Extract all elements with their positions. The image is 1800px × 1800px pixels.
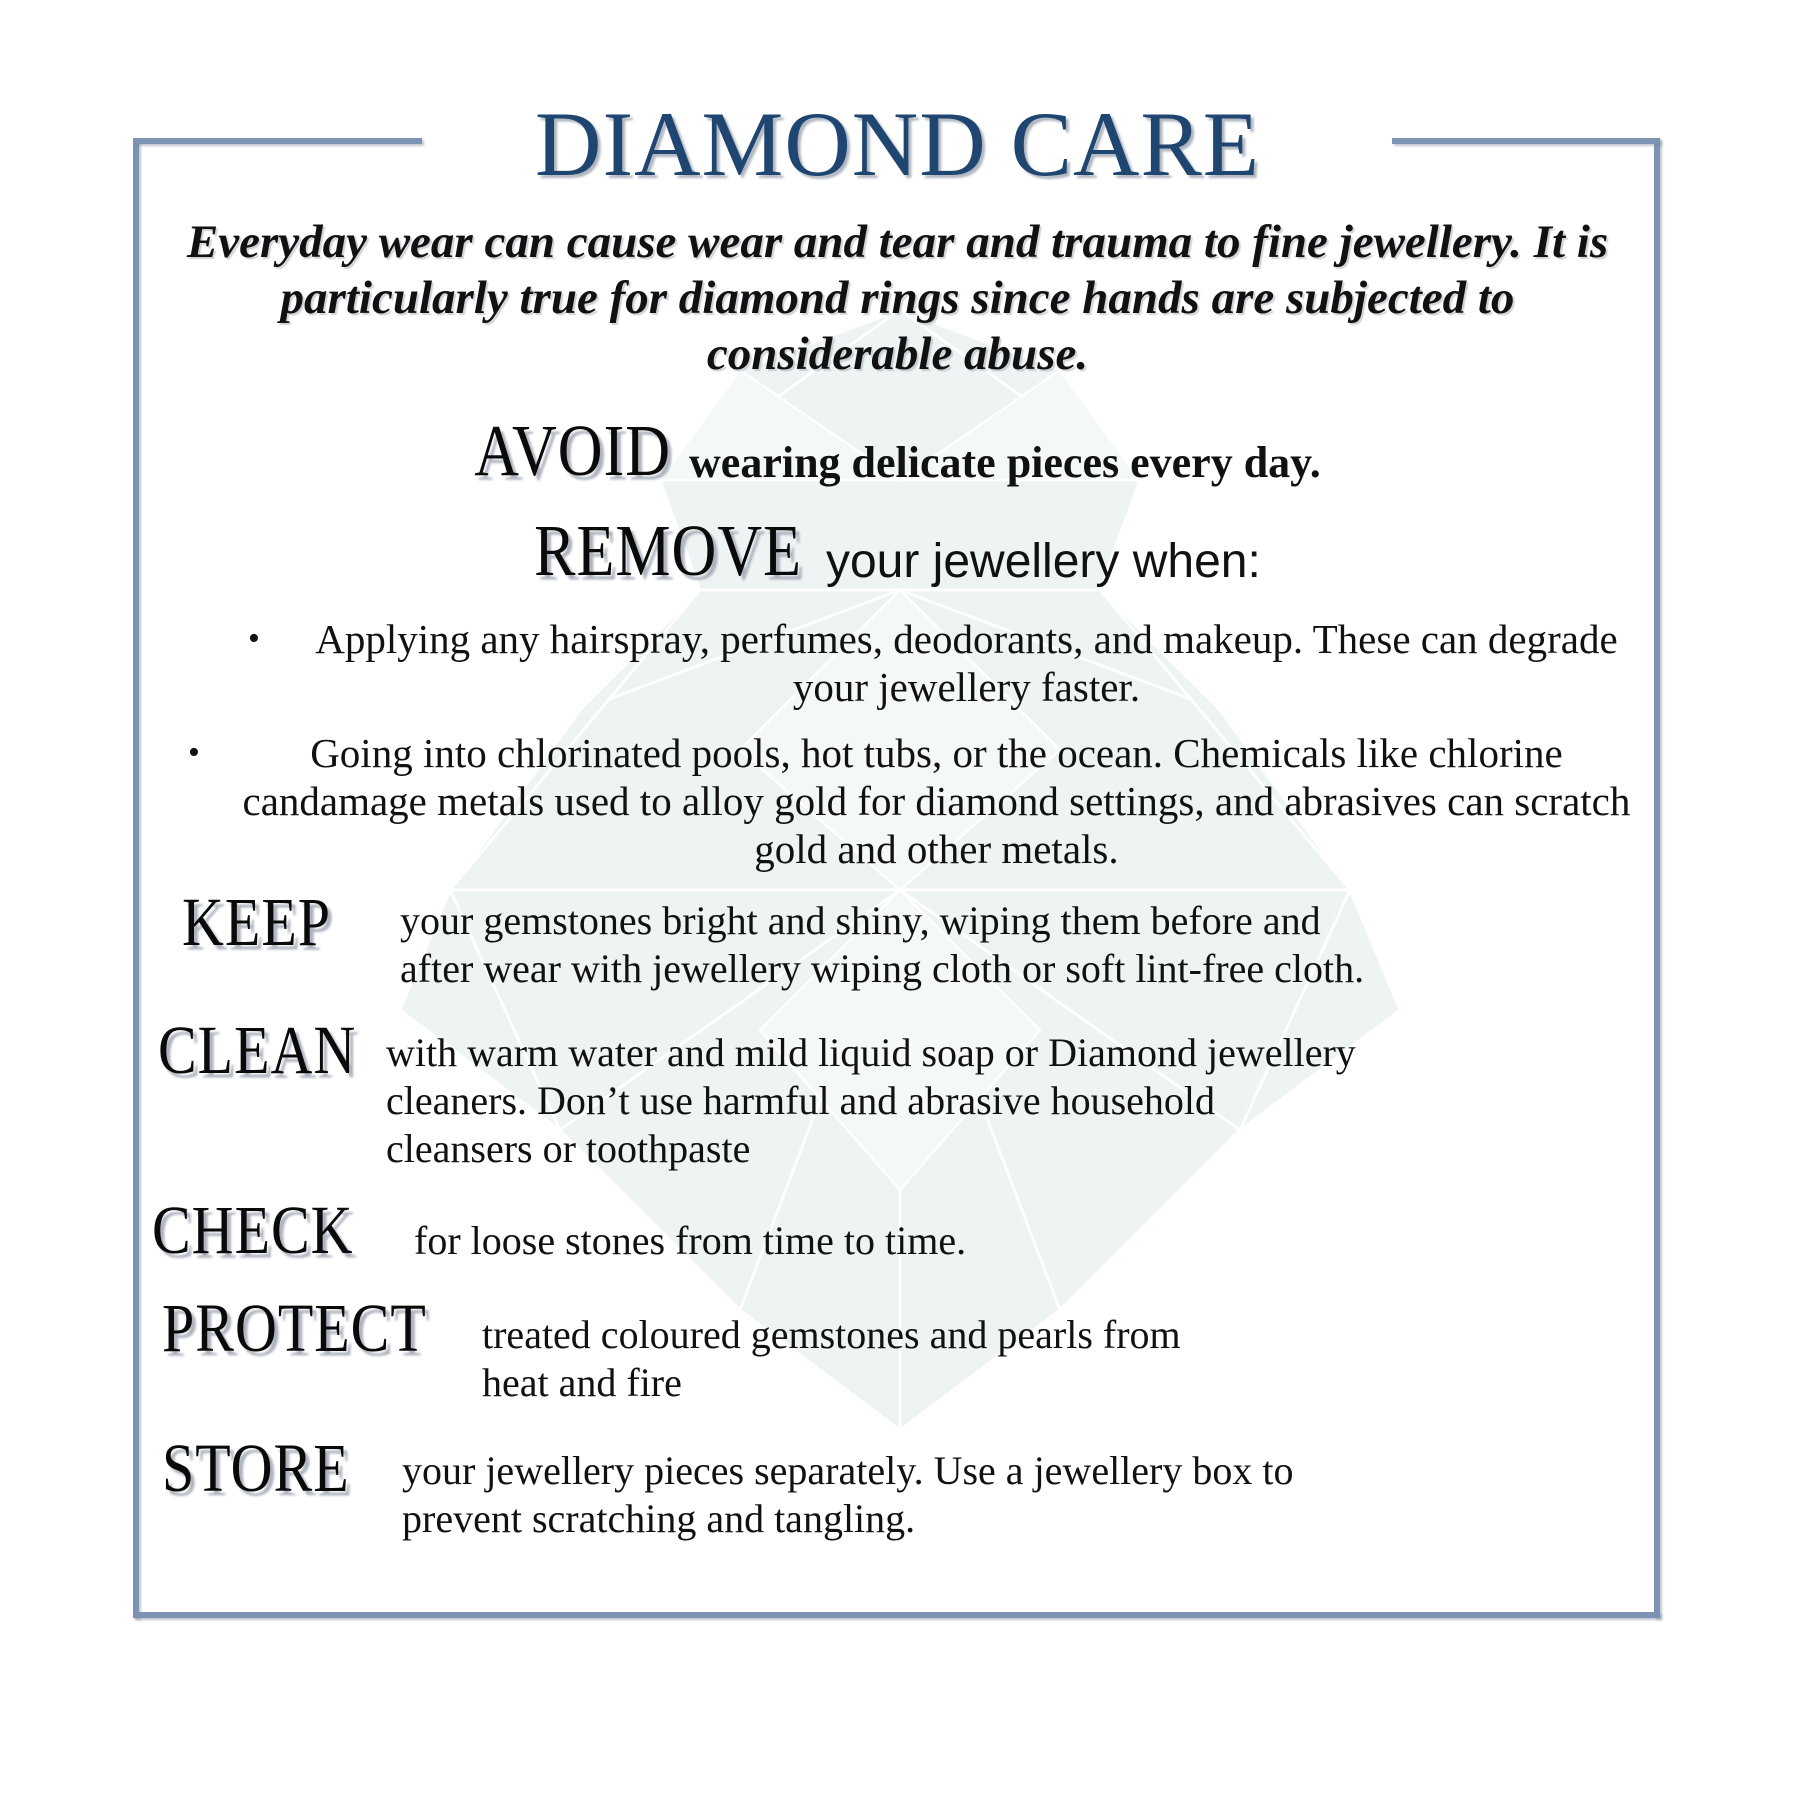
clean-line-2: cleaners. Don’t use harmful and abrasive… (386, 1077, 1655, 1125)
title-row: DIAMOND CARE (140, 96, 1655, 192)
bullet-body: Applying any hairspray, perfumes, deodor… (278, 615, 1655, 711)
check-keyword: CHECK (152, 1194, 354, 1267)
bullet-2-line-1: Going into chlorinated pools, hot tubs, … (310, 730, 1418, 776)
remove-keyword: REMOVE (534, 515, 802, 588)
bullet-1-line-1: Applying any hairspray, perfumes, deodor… (315, 616, 1303, 662)
keep-body: your gemstones bright and shiny, wiping … (400, 895, 1655, 993)
bullet-icon: • (188, 729, 200, 777)
care-row-clean: CLEAN with warm water and mild liquid so… (140, 1023, 1655, 1173)
store-line-2: prevent scratching and tangling. (402, 1495, 1655, 1543)
protect-body: treated coloured gemstones and pearls fr… (482, 1301, 1655, 1407)
store-body: your jewellery pieces separately. Use a … (402, 1441, 1655, 1543)
store-keyword: STORE (162, 1432, 350, 1505)
border-left (133, 138, 139, 1618)
care-row-store: STORE your jewellery pieces separately. … (140, 1441, 1655, 1543)
keep-keyword-cell: KEEP (182, 895, 400, 959)
bullet-icon: • (248, 615, 260, 663)
check-line-1: for loose stones from time to time. (414, 1217, 1655, 1265)
list-item: • Applying any hairspray, perfumes, deod… (140, 615, 1655, 711)
bullet-body: Going into chlorinated pools, hot tubs, … (218, 729, 1655, 873)
avoid-keyword: AVOID (474, 415, 671, 488)
border-bottom (133, 1612, 1660, 1618)
remove-section: REMOVEyour jewellery when: (140, 526, 1655, 589)
remove-text: your jewellery when: (826, 535, 1261, 588)
check-keyword-cell: CHECK (152, 1203, 414, 1267)
avoid-section: AVOIDwearing delicate pieces every day. (140, 426, 1655, 488)
page-title: DIAMOND CARE (519, 96, 1276, 192)
intro-line-1: Everyday wear can cause wear and tear an… (187, 216, 1241, 268)
keep-line-1: your gemstones bright and shiny, wiping … (400, 897, 1655, 945)
clean-keyword: CLEAN (158, 1014, 356, 1087)
poster-content: DIAMOND CARE Everyday wear can cause wea… (140, 96, 1655, 1573)
protect-line-1: treated coloured gemstones and pearls fr… (482, 1311, 1655, 1359)
protect-keyword: PROTECT (162, 1292, 427, 1365)
care-instruction-list: KEEP your gemstones bright and shiny, wi… (140, 895, 1655, 1543)
check-body: for loose stones from time to time. (414, 1203, 1655, 1265)
store-keyword-cell: STORE (162, 1441, 402, 1505)
intro-paragraph: Everyday wear can cause wear and tear an… (140, 214, 1655, 382)
protect-line-2: heat and fire (482, 1359, 1655, 1407)
care-row-check: CHECK for loose stones from time to time… (140, 1203, 1655, 1267)
avoid-text: wearing delicate pieces every day. (689, 438, 1321, 487)
clean-line-1: with warm water and mild liquid soap or … (386, 1029, 1655, 1077)
clean-line-3: cleansers or toothpaste (386, 1125, 1655, 1173)
diamond-care-poster: DIAMOND CARE Everyday wear can cause wea… (0, 0, 1800, 1800)
keep-keyword: KEEP (182, 886, 331, 959)
clean-keyword-cell: CLEAN (158, 1023, 386, 1087)
care-row-protect: PROTECT treated coloured gemstones and p… (140, 1301, 1655, 1407)
remove-bullet-list: • Applying any hairspray, perfumes, deod… (140, 615, 1655, 873)
care-row-keep: KEEP your gemstones bright and shiny, wi… (140, 895, 1655, 993)
protect-keyword-cell: PROTECT (162, 1301, 482, 1365)
store-line-1: your jewellery pieces separately. Use a … (402, 1447, 1655, 1495)
clean-body: with warm water and mild liquid soap or … (386, 1023, 1655, 1173)
keep-line-2: after wear with jewellery wiping cloth o… (400, 945, 1655, 993)
list-item: • Going into chlorinated pools, hot tubs… (140, 729, 1655, 873)
